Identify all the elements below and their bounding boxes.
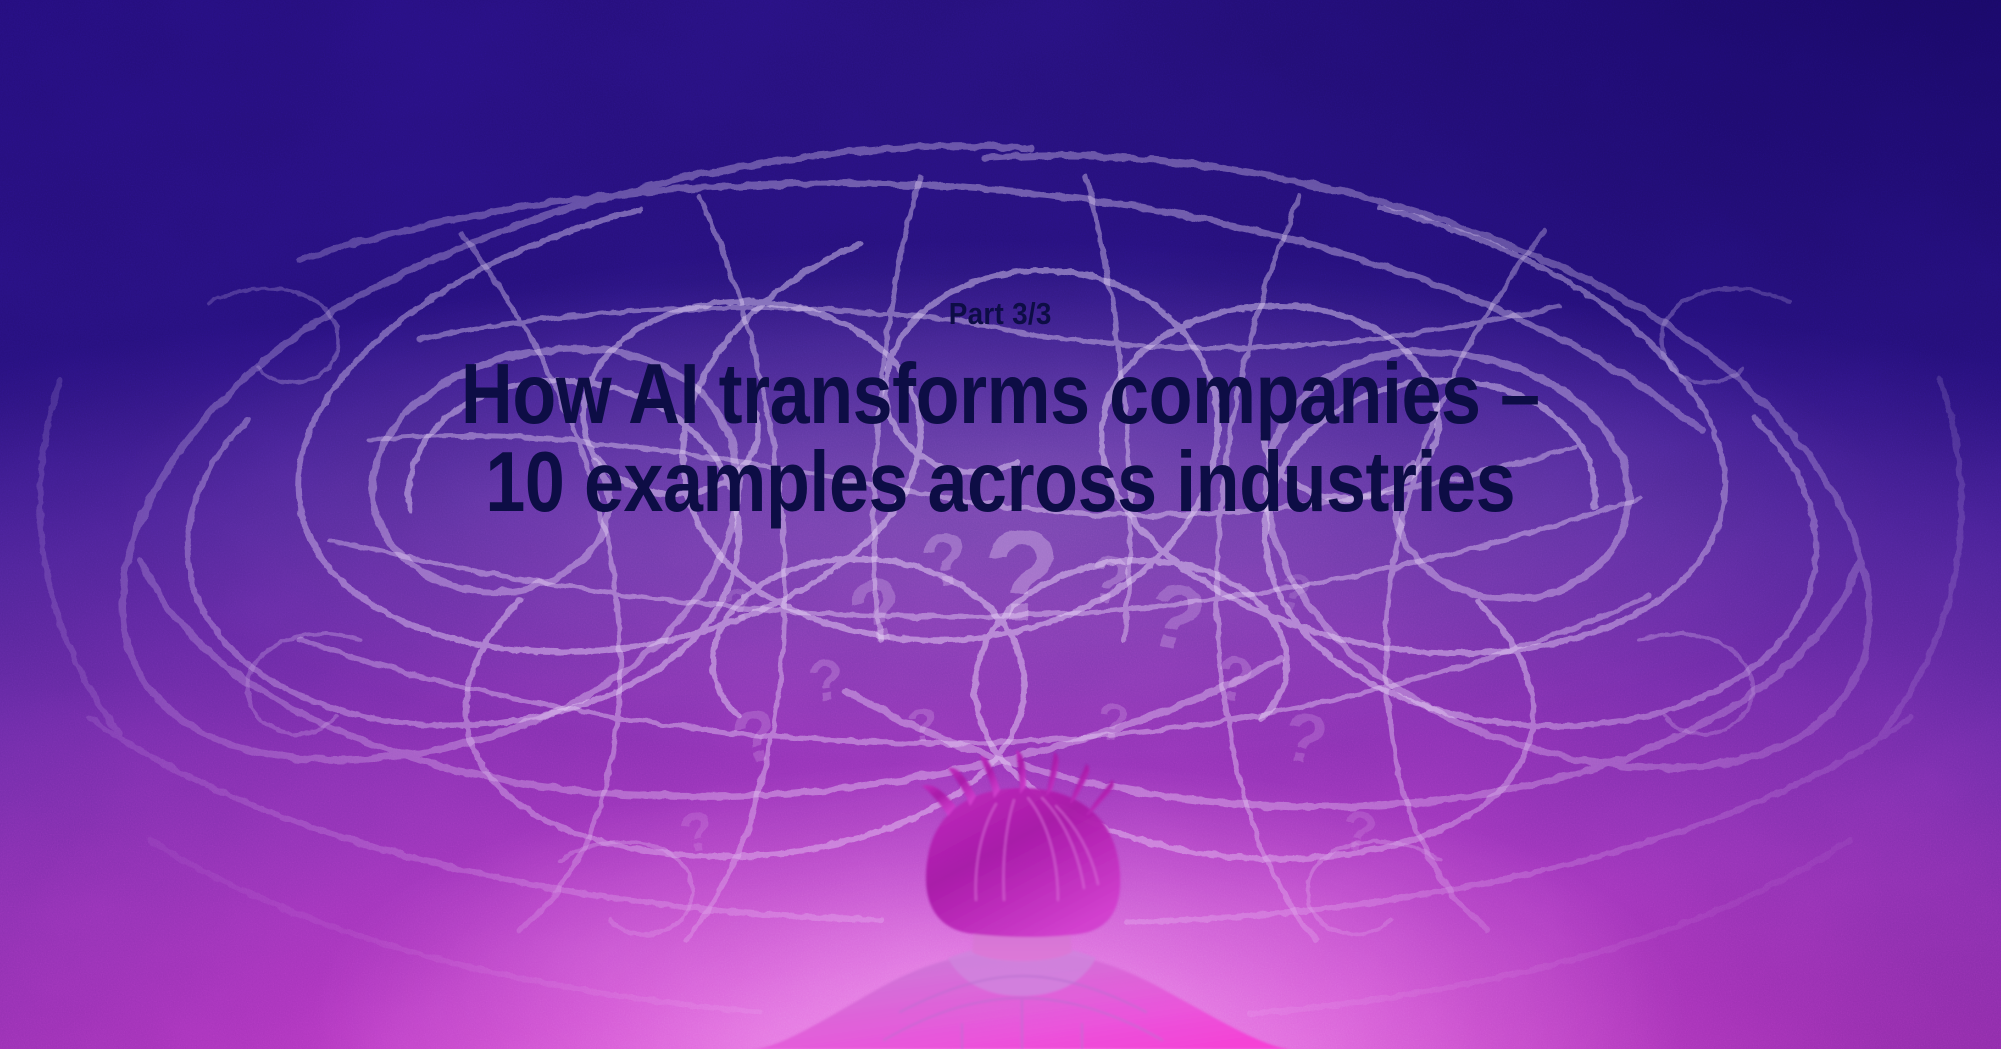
question-mark-icon: ? <box>838 556 917 666</box>
question-mark-icon: ? <box>1276 696 1334 781</box>
hero-banner: ? ? ? ? ? ? ? ? ? ? ? ? ? ? ? <box>0 0 2001 1049</box>
chalk-scribble-cloud <box>0 0 2001 1049</box>
figure-hair-tufts <box>922 750 1114 816</box>
question-mark-icon: ? <box>1136 562 1215 675</box>
question-mark-icon: ? <box>1211 643 1257 716</box>
figure-shirt <box>752 952 1292 1049</box>
figure-ear-left <box>933 836 959 884</box>
question-mark-icon: ? <box>906 699 940 754</box>
question-mark-icon: ? <box>805 646 847 714</box>
background-corner-shading <box>0 0 2001 1049</box>
person-from-behind-figure <box>0 0 2001 1049</box>
question-mark-icon: ? <box>1337 797 1382 865</box>
page-title: How AI transforms companies – 10 example… <box>362 351 1639 526</box>
question-mark-icon: ? <box>725 693 787 781</box>
figure-hair <box>926 788 1120 937</box>
question-mark-icon: ? <box>1095 693 1132 754</box>
figure-ear-right <box>1085 836 1111 884</box>
question-mark-icon: ? <box>1084 540 1135 619</box>
eyebrow-part-label: Part 3/3 <box>949 298 1052 329</box>
question-mark-group: ? ? ? ? ? ? ? ? ? ? ? ? ? ? ? <box>675 505 1381 865</box>
question-mark-icon: ? <box>675 800 718 865</box>
banner-text-block: Part 3/3 How AI transforms companies – 1… <box>0 0 2001 1049</box>
floating-question-marks: ? ? ? ? ? ? ? ? ? ? ? ? ? ? ? <box>0 0 2001 1049</box>
question-mark-icon: ? <box>718 576 761 634</box>
headline-line-2: 10 examples across industries <box>461 439 1540 527</box>
headline-line-1: How AI transforms companies – <box>461 351 1540 439</box>
question-mark-icon: ? <box>916 515 975 605</box>
figure-neck <box>972 886 1072 961</box>
figure-collar <box>948 944 1096 996</box>
background-center-glow <box>0 0 2001 1049</box>
background-gradient <box>0 0 2001 1049</box>
question-mark-icon: ? <box>1272 561 1317 623</box>
figure-hair-highlights <box>976 798 1098 900</box>
figure-shirt-seams <box>884 976 1162 1049</box>
paper-grain-texture <box>0 0 2001 1049</box>
question-mark-icon: ? <box>983 505 1061 648</box>
